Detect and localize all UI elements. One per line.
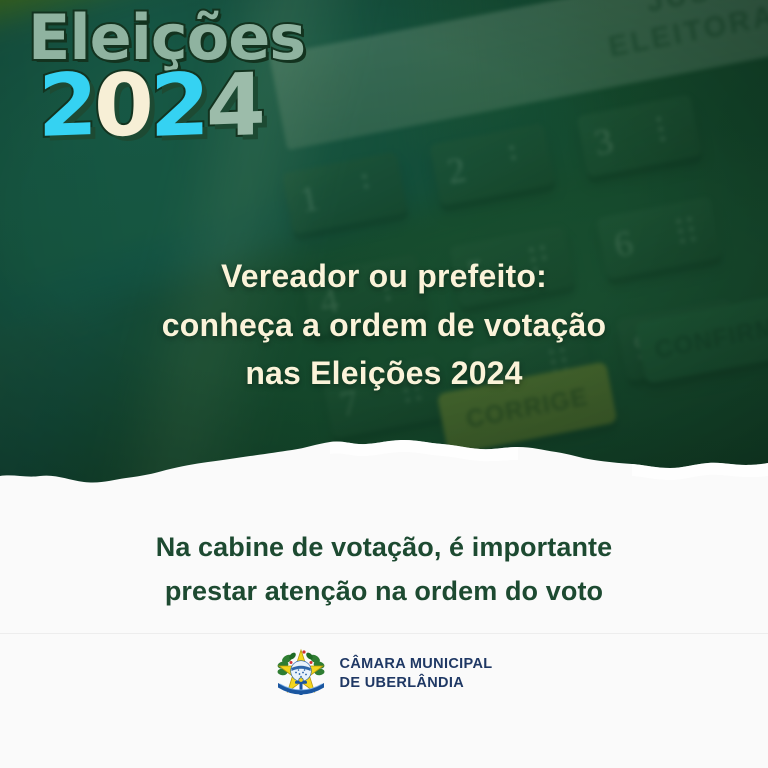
footer-divider: [0, 633, 768, 634]
headline-line-2: conheça a ordem de votação: [60, 301, 708, 350]
eleicoes-2024-logo: Eleições 2024: [28, 8, 368, 149]
footer-branding[interactable]: CÂMARA MUNICIPAL DE UBERLÂNDIA: [0, 646, 768, 702]
bottom-panel: Na cabine de votação, é importante prest…: [0, 486, 768, 768]
footer-organization-name: CÂMARA MUNICIPAL DE UBERLÂNDIA: [340, 655, 493, 694]
headline-line-3: nas Eleições 2024: [60, 349, 708, 398]
logo-digit-3: 4: [206, 62, 262, 150]
subheadline: Na cabine de votação, é importante prest…: [0, 526, 768, 613]
subheadline-line-1: Na cabine de votação, é importante: [55, 526, 713, 570]
logo-digit-1: 0: [94, 62, 150, 150]
headline-line-1: Vereador ou prefeito:: [60, 252, 708, 301]
hero-headline: Vereador ou prefeito: conheça a ordem de…: [0, 252, 768, 398]
brasao-republica-icon: [276, 646, 326, 702]
hero-photo-panel: JUSTIÇA ELEITORAL 123456789 CORRIGE CONF…: [0, 0, 768, 500]
logo-digit-0: 2: [38, 62, 94, 150]
subheadline-line-2: prestar atenção na ordem do voto: [55, 570, 713, 614]
logo-digit-2: 2: [150, 62, 206, 150]
logo-year-2024: 2024: [38, 63, 368, 149]
poster-canvas: JUSTIÇA ELEITORAL 123456789 CORRIGE CONF…: [0, 0, 768, 768]
